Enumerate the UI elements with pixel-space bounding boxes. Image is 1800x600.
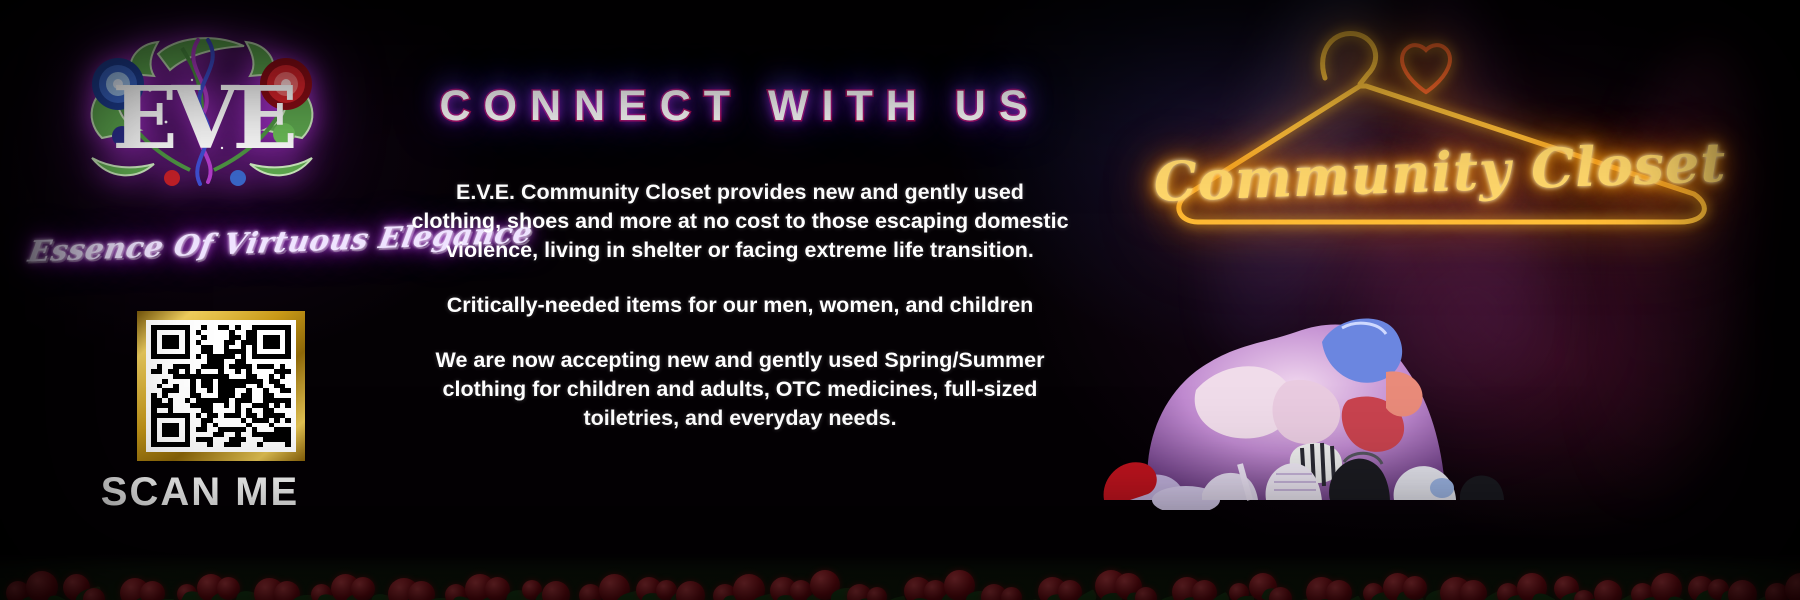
body-paragraph: We are now accepting new and gently used… bbox=[410, 346, 1070, 433]
brand-tagline: Essence Of Virtuous Elegance bbox=[26, 221, 374, 268]
rose bbox=[1192, 580, 1217, 600]
scan-me-label: SCAN ME bbox=[0, 470, 400, 515]
body-copy: E.V.E. Community Closet provides new and… bbox=[410, 178, 1070, 433]
qr-module-grid bbox=[151, 325, 291, 447]
qr-code[interactable] bbox=[137, 311, 305, 461]
body-paragraph: Critically-needed items for our men, wom… bbox=[410, 291, 1070, 320]
brand-column: EVE Essence Of Virtuous Elegance SCAN ME bbox=[0, 0, 400, 600]
rose bbox=[1326, 580, 1352, 600]
body-paragraph: E.V.E. Community Closet provides new and… bbox=[410, 178, 1070, 265]
rose bbox=[1460, 580, 1487, 600]
closet-artwork-column: Community Closet bbox=[1080, 0, 1800, 600]
message-column: CONNECT WITH US E.V.E. Community Closet … bbox=[400, 0, 1080, 600]
clothing-and-shoes-pile bbox=[1090, 250, 1510, 510]
svg-text:EVE: EVE bbox=[112, 68, 294, 169]
neon-heart-icon bbox=[1402, 45, 1450, 92]
page-title: CONNECT WITH US bbox=[400, 82, 1080, 131]
rose bbox=[867, 587, 887, 600]
qr-code-canvas bbox=[146, 320, 296, 452]
rose bbox=[140, 581, 165, 600]
rose bbox=[1594, 580, 1622, 600]
eve-floral-monogram-logo: EVE bbox=[62, 18, 342, 218]
rose bbox=[1403, 576, 1427, 600]
rose-bottom-border bbox=[0, 554, 1800, 600]
eve-community-closet-banner: EVE Essence Of Virtuous Elegance SCAN ME… bbox=[0, 0, 1800, 600]
